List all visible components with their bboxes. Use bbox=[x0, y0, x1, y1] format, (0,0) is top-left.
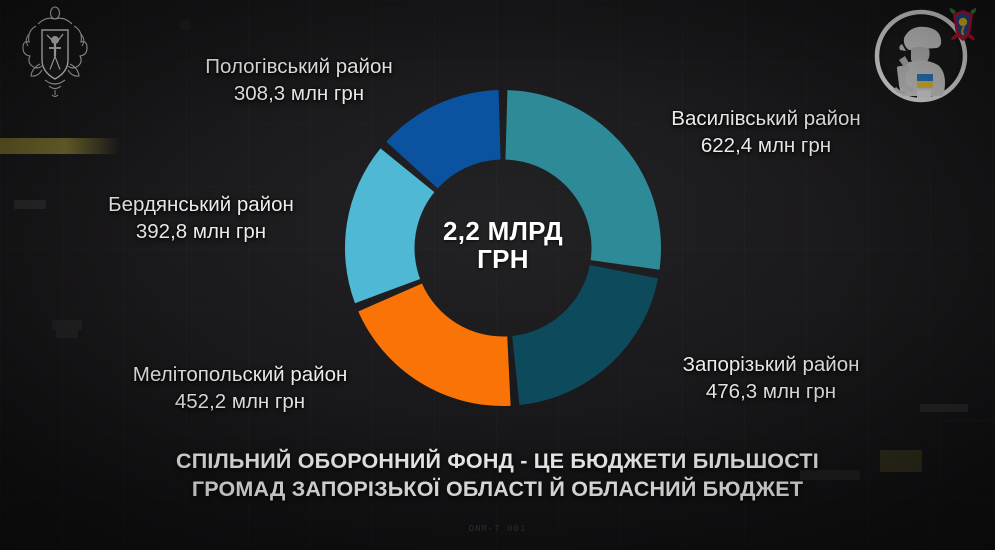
infographic-stage: 2,2 МЛРД ГРН Пологівський район 308,3 мл… bbox=[0, 0, 995, 550]
chart-label-vasylivskyi-value: 622,4 млн грн bbox=[632, 133, 900, 160]
background-marker-4 bbox=[920, 404, 968, 412]
chart-label-vasylivskyi-name: Василівський район bbox=[671, 107, 860, 130]
background-marker-1 bbox=[14, 200, 46, 209]
chart-label-berdianskyi-value: 392,8 млн грн bbox=[68, 219, 334, 246]
chart-label-berdianskyi-name: Бердянський район bbox=[108, 193, 294, 216]
caption: СПІЛЬНИЙ ОБОРОННИЙ ФОНД - ЦЕ БЮДЖЕТИ БІЛ… bbox=[0, 448, 995, 503]
chart-label-vasylivskyi: Василівський район 622,4 млн грн bbox=[632, 106, 900, 159]
background-marker-7 bbox=[180, 20, 190, 30]
ukraine-coat-of-arms-emblem bbox=[18, 4, 92, 100]
chart-label-zaporizkyi-value: 476,3 млн грн bbox=[632, 379, 910, 406]
background-marker-3 bbox=[56, 330, 78, 338]
caption-line-1: СПІЛЬНИЙ ОБОРОННИЙ ФОНД - ЦЕ БЮДЖЕТИ БІЛ… bbox=[176, 449, 819, 473]
chart-label-zaporizkyi-name: Запорізький район bbox=[683, 353, 860, 376]
watermark: ONR-T 001 bbox=[0, 524, 995, 534]
chart-label-zaporizkyi: Запорізький район 476,3 млн грн bbox=[632, 352, 910, 405]
background-marker-2 bbox=[52, 320, 82, 330]
chart-label-melitopolskyi-name: Мелітопольский район bbox=[133, 363, 348, 386]
donut-slices bbox=[345, 90, 661, 406]
chart-label-polohivskyi-value: 308,3 млн грн bbox=[168, 81, 430, 108]
chart-label-melitopolskyi: Мелітопольский район 452,2 млн грн bbox=[90, 362, 390, 415]
chart-label-polohivskyi-name: Пологівський район bbox=[205, 55, 392, 78]
chart-label-berdianskyi: Бердянський район 392,8 млн грн bbox=[68, 192, 334, 245]
background-line-2 bbox=[940, 420, 995, 421]
chart-label-melitopolskyi-value: 452,2 млн грн bbox=[90, 389, 390, 416]
background-banner-stripe bbox=[0, 138, 120, 154]
soldier-badge-emblem bbox=[871, 4, 981, 108]
caption-line-2: ГРОМАД ЗАПОРІЗЬКОЇ ОБЛАСТІ Й ОБЛАСНИЙ БЮ… bbox=[0, 476, 995, 504]
chart-label-polohivskyi: Пологівський район 308,3 млн грн bbox=[168, 54, 430, 107]
